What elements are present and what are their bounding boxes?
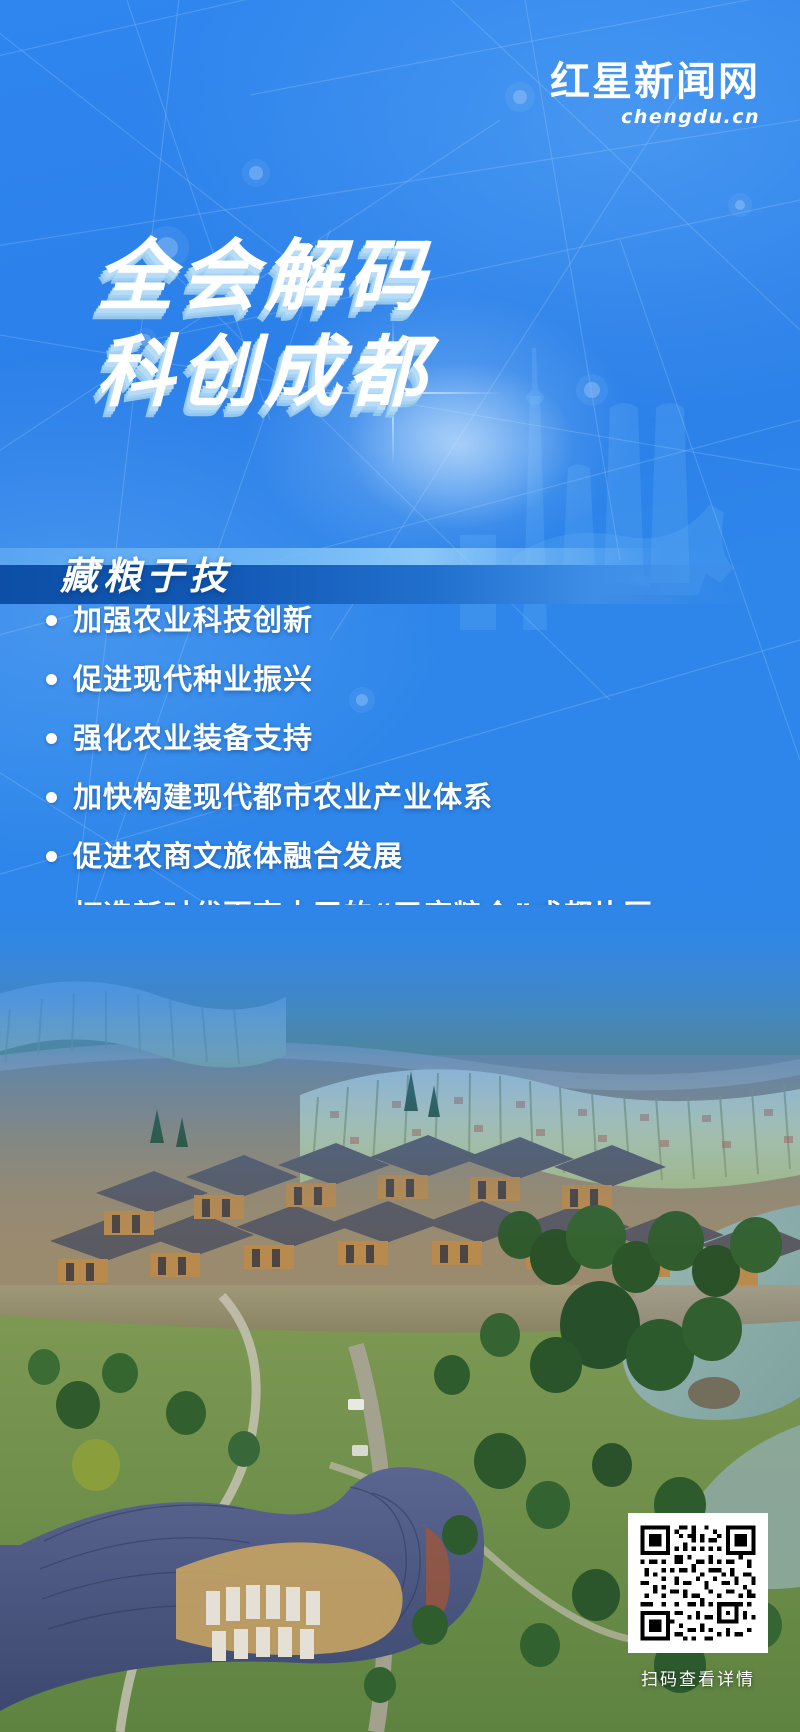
logo-name-en: chengdu.cn: [550, 108, 760, 127]
qr-block[interactable]: 扫码查看详情: [628, 1513, 768, 1690]
bullet-dot-icon: [46, 674, 57, 685]
qr-code-image[interactable]: [628, 1513, 768, 1653]
list-item-label: 加快构建现代都市农业产业体系: [73, 777, 493, 817]
site-logo[interactable]: 红星新闻网 chengdu.cn: [550, 62, 760, 127]
list-item: 加快构建现代都市农业产业体系: [46, 777, 766, 817]
logo-name-cn: 红星新闻网: [550, 62, 760, 102]
list-item-label: 促进农商文旅体融合发展: [73, 836, 403, 876]
bullet-dot-icon: [46, 851, 57, 862]
list-item: 强化农业装备支持: [46, 718, 766, 758]
list-item: 加强农业科技创新: [46, 600, 766, 640]
title-line-2: 科创成都: [96, 334, 432, 414]
bullet-dot-icon: [46, 615, 57, 626]
bullet-dot-icon: [46, 733, 57, 744]
list-item-label: 促进现代种业振兴: [73, 659, 313, 699]
title-line-1: 全会解码: [96, 238, 432, 318]
list-item: 促进农商文旅体融合发展: [46, 836, 766, 876]
list-item-label: 强化农业装备支持: [73, 718, 313, 758]
list-item: 促进现代种业振兴: [46, 659, 766, 699]
list-item-label: 加强农业科技创新: [73, 600, 313, 640]
bullet-dot-icon: [46, 792, 57, 803]
section-heading: 藏粮于技: [60, 548, 232, 604]
qr-caption: 扫码查看详情: [628, 1665, 768, 1690]
poster-root: 红星新闻网 chengdu.cn 全会解码 科创成都 藏粮于技 加强农业科技创新…: [0, 0, 800, 1732]
poster-title: 全会解码 科创成都: [96, 238, 432, 413]
bullet-list: 加强农业科技创新 促进现代种业振兴 强化农业装备支持 加快构建现代都市农业产业体…: [46, 600, 766, 954]
